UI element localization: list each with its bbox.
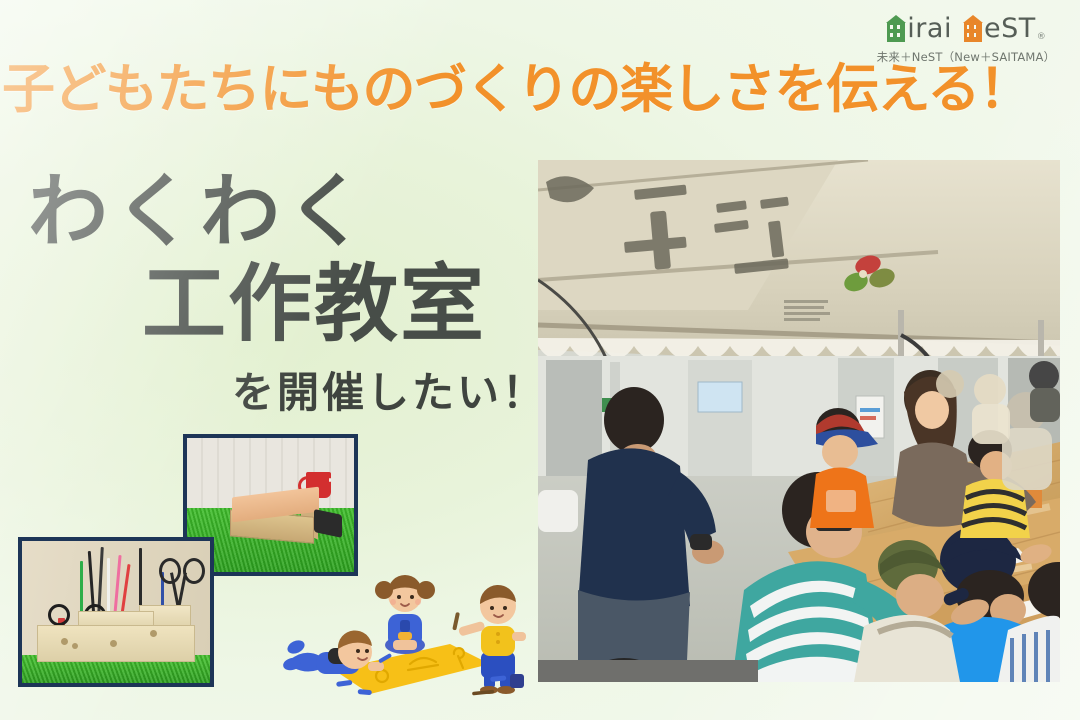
- logo-letter-e: e: [984, 15, 1000, 42]
- logo-letter-a: a: [927, 15, 943, 42]
- boy-lying-drawing: [282, 630, 392, 674]
- logo-letter-r: r: [915, 15, 926, 42]
- logo-letter-s: S: [1001, 15, 1018, 42]
- logo-wordmark: i r a i e S T ®: [866, 8, 1066, 42]
- house-icon-green: [886, 15, 906, 42]
- headline-text: 子どもたちにものづくりの楽しさを伝える！: [2, 62, 1078, 118]
- organizer-base: [37, 625, 195, 662]
- photo-main-event: [538, 160, 1060, 682]
- house-icon-orange: [963, 15, 983, 42]
- poster-root: i r a i e S T ® 未来＋NeST（New＋SAITAMA） 子ども…: [0, 0, 1080, 720]
- paint-jar: [510, 674, 524, 688]
- title-line-3: を開催したい！: [232, 372, 547, 414]
- photo-pen-organizer: [18, 537, 214, 687]
- logo-letter-t: T: [1019, 15, 1035, 42]
- scissors-object: [157, 558, 202, 609]
- logo-letter-i2: i: [944, 15, 951, 42]
- brand-logo: i r a i e S T ® 未来＋NeST（New＋SAITAMA）: [866, 8, 1066, 65]
- girl-kneeling: [375, 575, 435, 654]
- children-crafting-illustration: [272, 552, 534, 712]
- registered-mark: ®: [1037, 32, 1046, 42]
- booth-poster-1: [698, 382, 742, 412]
- logo-letter-i: i: [907, 15, 914, 42]
- title-line-1: わくわく: [28, 172, 372, 252]
- crayon-blue-1: [336, 680, 353, 687]
- title-line-2: 工作教室: [142, 262, 486, 346]
